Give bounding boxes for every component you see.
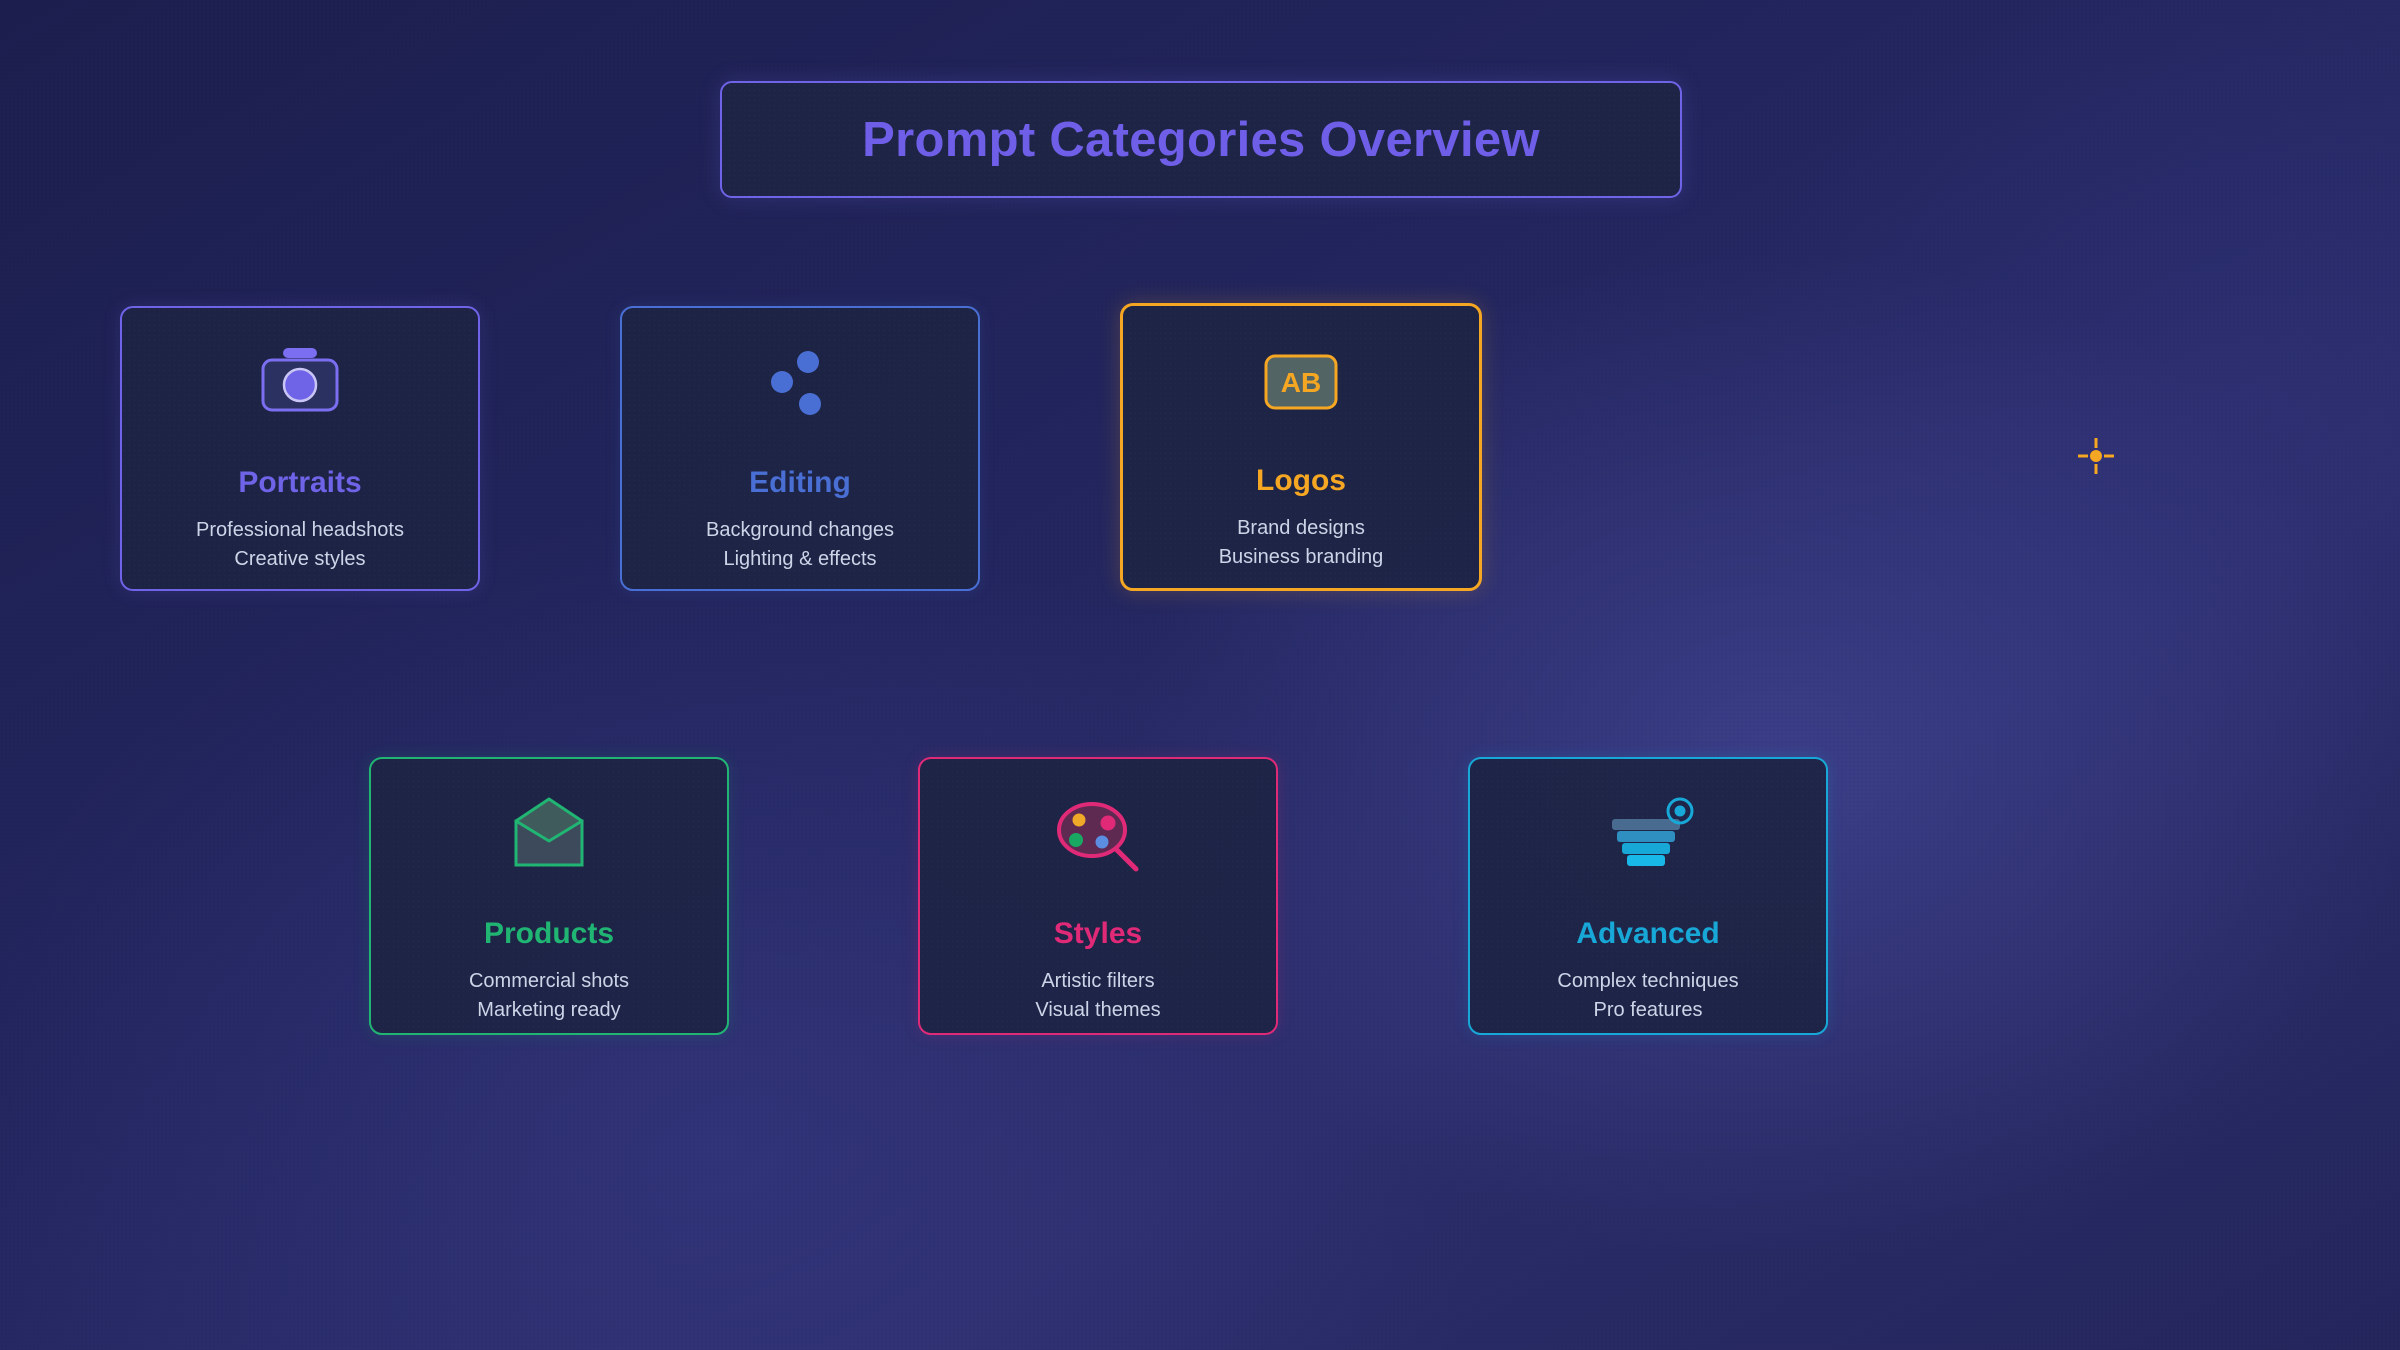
card-line: Marketing ready — [469, 996, 629, 1025]
card-title: Styles — [1054, 917, 1142, 951]
card-line: Brand designs — [1219, 514, 1384, 543]
crosshair-cursor-icon — [2076, 436, 2116, 476]
category-card-products[interactable]: Products Commercial shots Marketing read… — [369, 757, 729, 1035]
envelope-icon — [371, 775, 727, 895]
card-description: Brand designs Business branding — [1219, 514, 1384, 572]
card-line: Lighting & effects — [706, 545, 894, 574]
page-header-banner: Prompt Categories Overview — [720, 81, 1682, 198]
layers-stack-icon — [1470, 775, 1826, 895]
three-dots-icon — [622, 324, 978, 444]
card-title: Advanced — [1576, 917, 1719, 951]
card-title: Editing — [749, 466, 851, 500]
ab-badge-label: AB — [1281, 367, 1321, 398]
card-line: Pro features — [1557, 996, 1738, 1025]
category-card-logos[interactable]: AB Logos Brand designs Business branding — [1120, 303, 1482, 591]
card-title: Products — [484, 917, 614, 951]
card-line: Creative styles — [196, 545, 404, 574]
card-line: Business branding — [1219, 543, 1384, 572]
card-line: Artistic filters — [1035, 967, 1160, 996]
card-line: Professional headshots — [196, 516, 404, 545]
card-description: Professional headshots Creative styles — [196, 516, 404, 574]
card-description: Artistic filters Visual themes — [1035, 967, 1160, 1025]
category-card-editing[interactable]: Editing Background changes Lighting & ef… — [620, 306, 980, 591]
background-texture — [0, 0, 2400, 1350]
card-description: Commercial shots Marketing ready — [469, 967, 629, 1025]
category-card-styles[interactable]: Styles Artistic filters Visual themes — [918, 757, 1278, 1035]
card-line: Visual themes — [1035, 996, 1160, 1025]
camera-icon — [122, 324, 478, 444]
card-description: Complex techniques Pro features — [1557, 967, 1738, 1025]
card-line: Commercial shots — [469, 967, 629, 996]
card-line: Background changes — [706, 516, 894, 545]
palette-icon — [920, 775, 1276, 895]
card-description: Background changes Lighting & effects — [706, 516, 894, 574]
card-title: Logos — [1256, 464, 1346, 498]
card-line: Complex techniques — [1557, 967, 1738, 996]
page-title: Prompt Categories Overview — [862, 112, 1540, 168]
ab-badge-icon: AB — [1123, 322, 1479, 442]
category-card-advanced[interactable]: Advanced Complex techniques Pro features — [1468, 757, 1828, 1035]
card-title: Portraits — [238, 466, 361, 500]
category-card-portraits[interactable]: Portraits Professional headshots Creativ… — [120, 306, 480, 591]
